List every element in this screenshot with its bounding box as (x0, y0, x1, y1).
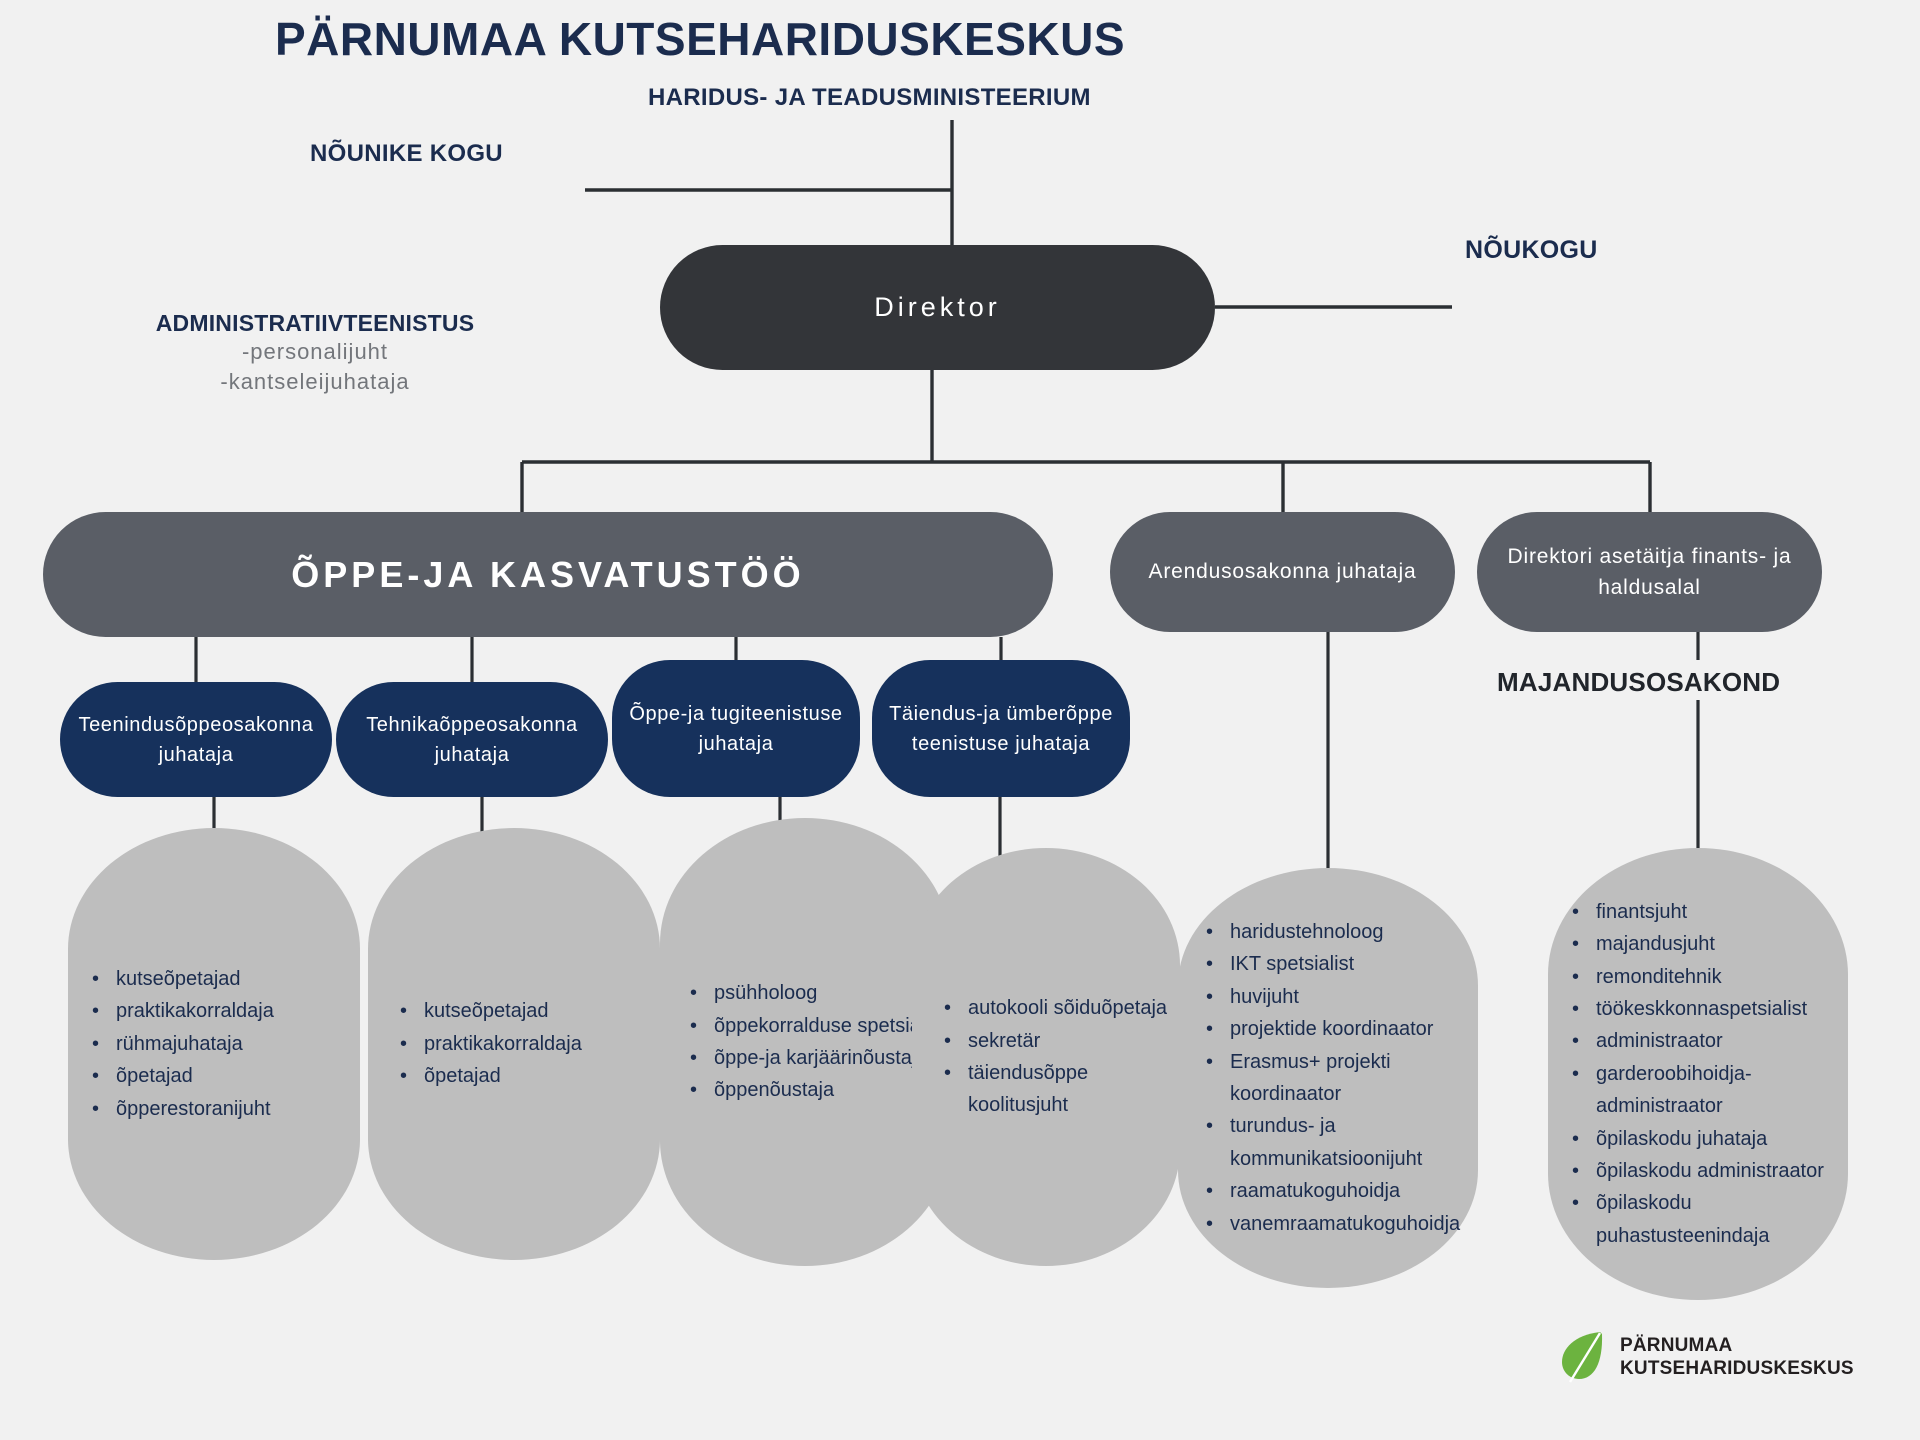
staff-list-oppe-ja-tugiteenistus: psühholoogõppekorralduse spetsialistõppe… (660, 818, 950, 1266)
list-item: majandusjuht (1592, 928, 1848, 960)
list-item: garderoobihoidja-administraator (1592, 1058, 1848, 1123)
list-item: täiendusõppe koolitusjuht (964, 1057, 1180, 1122)
list-item: rühmajuhataja (112, 1028, 360, 1060)
list-item: raamatukoguhoidja (1226, 1175, 1478, 1207)
list-item: õpetajad (420, 1060, 660, 1092)
list-item: õpetajad (112, 1060, 360, 1092)
board-label: NÕUKOGU (1465, 236, 1598, 265)
list-item: kutseõpetajad (420, 995, 660, 1027)
list-item: õpilaskodu juhataja (1592, 1123, 1848, 1155)
list-item: vanemraamatukoguhoidja (1226, 1208, 1478, 1240)
node-deputy-director[interactable]: Direktori asetäitja finants- ja haldusal… (1477, 512, 1822, 632)
list-item: sekretär (964, 1025, 1180, 1057)
node-department-head-3[interactable]: Õppe-ja tugiteenistuse juhataja (612, 660, 860, 797)
staff-list-teenindusoppeosakond: kutseõpetajadpraktikakorraldajarühmajuha… (68, 828, 360, 1260)
leaf-icon (1560, 1330, 1606, 1384)
administrative-service-block: ADMINISTRATIIVTEENISTUS -personalijuht -… (90, 310, 540, 396)
list-item: õpilaskodu puhastusteenindaja (1592, 1187, 1848, 1252)
node-director[interactable]: Direktor (660, 245, 1215, 370)
administrative-service-item-1: -personalijuht (90, 337, 540, 367)
list-item: IKT spetsialist (1226, 948, 1478, 980)
list-item: turundus- ja kommunikatsioonijuht (1226, 1110, 1478, 1175)
list-item: Erasmus+ projekti koordinaator (1226, 1046, 1478, 1111)
list-item: projektide koordinaator (1226, 1013, 1478, 1045)
node-department-head-1[interactable]: Teenindusõppeosakonna juhataja (60, 682, 332, 797)
economy-department-heading: MAJANDUSOSAKOND (1497, 667, 1780, 698)
list-item: finantsjuht (1592, 896, 1848, 928)
list-item: õpperestoranijuht (112, 1093, 360, 1125)
list-item: autokooli sõiduõpetaja (964, 992, 1180, 1024)
logo-line-2: KUTSEHARIDUSKESKUS (1620, 1357, 1854, 1380)
staff-list-taiendusoppe-teenistus: autokooli sõiduõpetajasekretärtäiendusõp… (912, 848, 1180, 1266)
list-item: administraator (1592, 1025, 1848, 1057)
staff-list-majandusosakond: finantsjuhtmajandusjuhtremonditehniktöök… (1548, 848, 1848, 1300)
list-item: õpilaskodu administraator (1592, 1155, 1848, 1187)
list-item: praktikakorraldaja (112, 995, 360, 1027)
list-item: huvijuht (1226, 981, 1478, 1013)
list-item: praktikakorraldaja (420, 1028, 660, 1060)
logo-line-1: PÄRNUMAA (1620, 1334, 1854, 1357)
node-department-head-2[interactable]: Tehnikaõppeosakonna juhataja (336, 682, 608, 797)
administrative-service-item-2: -kantseleijuhataja (90, 367, 540, 397)
administrative-service-title: ADMINISTRATIIVTEENISTUS (90, 310, 540, 337)
org-chart-page: PÄRNUMAA KUTSEHARIDUSKESKUS HARIDUS- JA … (0, 0, 1920, 1440)
organization-logo: PÄRNUMAA KUTSEHARIDUSKESKUS (1560, 1330, 1854, 1384)
staff-list-arendusosakond: haridustehnoloogIKT spetsialisthuvijuhtp… (1178, 868, 1478, 1288)
logo-text: PÄRNUMAA KUTSEHARIDUSKESKUS (1620, 1334, 1854, 1380)
list-item: haridustehnoloog (1226, 916, 1478, 948)
advisory-council-label: NÕUNIKE KOGU (310, 140, 503, 168)
page-title: PÄRNUMAA KUTSEHARIDUSKESKUS (0, 12, 1400, 66)
list-item: kutseõpetajad (112, 963, 360, 995)
ministry-label: HARIDUS- JA TEADUSMINISTEERIUM (648, 84, 1091, 112)
node-education-unit[interactable]: ÕPPE-JA KASVATUSTÖÖ (43, 512, 1053, 637)
list-item: remonditehnik (1592, 961, 1848, 993)
node-department-head-4[interactable]: Täiendus-ja ümberõppe teenistuse juhataj… (872, 660, 1130, 797)
list-item: töökeskkonnaspetsialist (1592, 993, 1848, 1025)
staff-list-tehnikaoppeosakond: kutseõpetajadpraktikakorraldajaõpetajad (368, 828, 660, 1260)
node-development-head[interactable]: Arendusosakonna juhataja (1110, 512, 1455, 632)
